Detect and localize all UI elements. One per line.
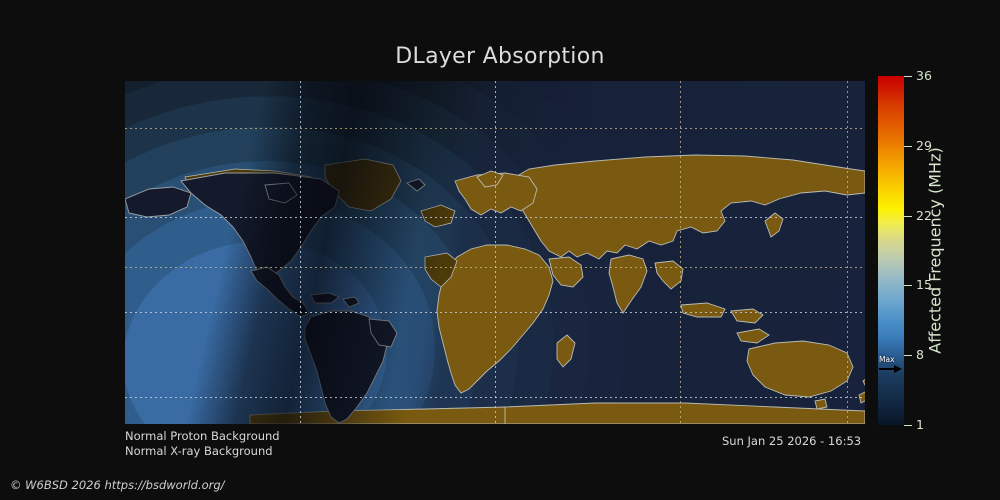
gridline-lon-120w (300, 81, 301, 424)
credit-line: © W6BSD 2026 https://bsdworld.org/ (10, 478, 225, 492)
colorbar-axis-title-text: Affected Frequency (MHz) (926, 147, 945, 353)
colorbar-max-marker: Max (878, 355, 904, 383)
world-map[interactable] (125, 81, 865, 424)
max-label: Max (878, 355, 895, 364)
xray-background-note: Normal X-ray Background (125, 444, 280, 459)
colorbar-tick-1 (904, 425, 912, 426)
gridline-lon-60e (680, 81, 681, 424)
colorbar-tick-29 (904, 146, 912, 147)
page-title: DLayer Absorption (0, 44, 1000, 69)
colorbar-tick-36 (904, 76, 912, 77)
colorbar-axis-title: Affected Frequency (MHz) (922, 76, 948, 425)
proton-background-note: Normal Proton Background (125, 429, 280, 444)
status-notes: Normal Proton Background Normal X-ray Ba… (125, 429, 280, 459)
colorbar-tick-22 (904, 216, 912, 217)
colorbar[interactable]: Max (878, 76, 904, 425)
timestamp: Sun Jan 25 2026 - 16:53 (722, 434, 861, 448)
gridline-lon-0 (495, 81, 496, 424)
max-arrow-icon (878, 364, 904, 374)
colorbar-tick-8 (904, 355, 912, 356)
colorbar-tick-15 (904, 285, 912, 286)
dlayer-absorption-app: DLayer Absorption (0, 0, 1000, 500)
gridline-lon-120e (847, 81, 848, 424)
